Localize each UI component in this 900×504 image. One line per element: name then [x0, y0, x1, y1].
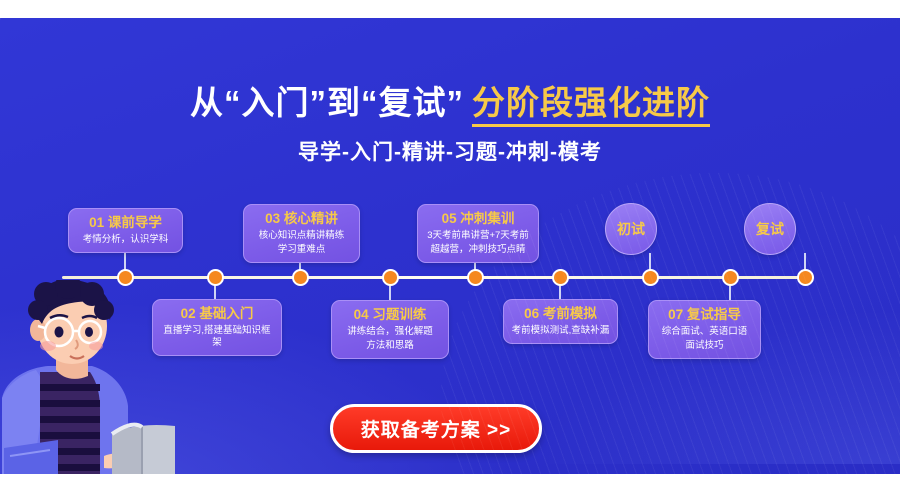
student-reading-illustration [0, 280, 175, 474]
stage-card-07[interactable]: 07 复试指导 综合面试、英语口语 面试技巧 [648, 300, 761, 359]
stage-card-desc: 方法和思路 [338, 340, 442, 352]
timeline-axis [62, 276, 802, 279]
stage-card-desc: 核心知识点精讲精练 [250, 230, 353, 242]
timeline-node[interactable] [292, 269, 309, 286]
stage-card-desc: 直播学习,搭建基础知识框架 [159, 325, 275, 349]
stage-card-title: 01 课前导学 [75, 214, 176, 232]
stage-card-desc: 学习重难点 [250, 244, 353, 256]
stage-card-title: 03 核心精讲 [250, 210, 353, 228]
stage-badge-second-exam[interactable]: 复试 [744, 203, 796, 255]
timeline-node[interactable] [797, 269, 814, 286]
timeline-node[interactable] [467, 269, 484, 286]
stage-card-desc: 讲练结合，强化解题 [338, 326, 442, 338]
stage-card-desc: 考前模拟测试,查缺补漏 [510, 325, 611, 337]
timeline-node[interactable] [552, 269, 569, 286]
stage-card-title: 04 习题训练 [338, 306, 442, 324]
stage-badge-first-exam[interactable]: 初试 [605, 203, 657, 255]
timeline-node[interactable] [722, 269, 739, 286]
eye [85, 327, 93, 337]
eye [55, 327, 64, 338]
blush [40, 341, 56, 351]
stage-card-title: 06 考前模拟 [510, 305, 611, 323]
stage-card-desc: 考情分析，认识学科 [75, 234, 176, 246]
stage-card-desc: 面试技巧 [655, 340, 754, 352]
stage-card-03[interactable]: 03 核心精讲 核心知识点精讲精练 学习重难点 [243, 204, 360, 263]
promo-banner-page: 从“入门”到“复试”分阶段强化进阶 导学-入门-精讲-习题-冲刺-模考 01 课… [0, 0, 900, 504]
stage-card-desc: 超越营，冲刺技巧点睛 [424, 244, 532, 256]
get-study-plan-button[interactable]: 获取备考方案 >> [330, 404, 542, 453]
timeline-node[interactable] [642, 269, 659, 286]
stage-card-01[interactable]: 01 课前导学 考情分析，认识学科 [68, 208, 183, 253]
timeline-node[interactable] [207, 269, 224, 286]
hair-curl [28, 300, 48, 320]
page-title: 从“入门”到“复试”分阶段强化进阶 [0, 76, 900, 124]
ear [30, 319, 46, 341]
book-page-left [112, 427, 142, 474]
stage-card-title: 07 复试指导 [655, 306, 754, 324]
stage-card-06[interactable]: 06 考前模拟 考前模拟测试,查缺补漏 [503, 299, 618, 344]
stage-card-title: 02 基础入门 [159, 305, 275, 323]
stage-card-title: 05 冲刺集训 [424, 210, 532, 228]
stage-card-desc: 3天考前串讲营+7天考前 [424, 230, 532, 242]
timeline-node[interactable] [382, 269, 399, 286]
page-title-highlight: 分阶段强化进阶 [472, 84, 710, 127]
banner-background: 从“入门”到“复试”分阶段强化进阶 导学-入门-精讲-习题-冲刺-模考 01 课… [0, 18, 900, 474]
blush [89, 342, 103, 351]
stage-card-desc: 综合面试、英语口语 [655, 326, 754, 338]
stage-card-04[interactable]: 04 习题训练 讲练结合，强化解题 方法和思路 [331, 300, 449, 359]
stage-badge-label: 初试 [617, 219, 645, 239]
stage-badge-label: 复试 [756, 219, 784, 239]
page-subtitle: 导学-入门-精讲-习题-冲刺-模考 [0, 136, 900, 166]
cta-label: 获取备考方案 >> [361, 415, 511, 442]
page-title-main: 从“入门”到“复试” [190, 84, 464, 121]
stage-card-05[interactable]: 05 冲刺集训 3天考前串讲营+7天考前 超越营，冲刺技巧点睛 [417, 204, 539, 263]
